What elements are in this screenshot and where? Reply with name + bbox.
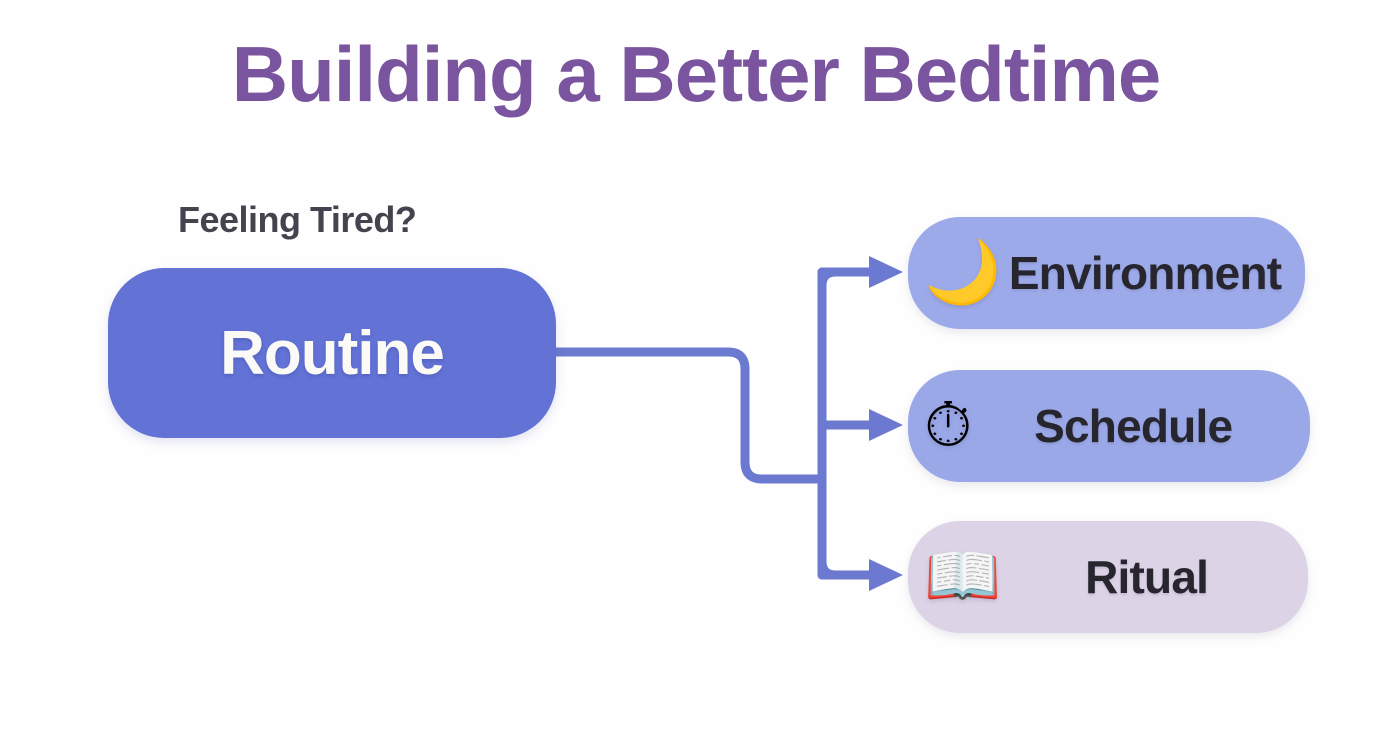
- open-book-icon: 📖: [924, 546, 1001, 608]
- node-schedule[interactable]: ⏱ Schedule: [908, 370, 1310, 482]
- node-schedule-label: Schedule: [972, 399, 1310, 453]
- arrowhead-schedule: [869, 409, 903, 441]
- arrowhead-environment: [869, 256, 903, 288]
- arrowhead-ritual: [869, 559, 903, 591]
- node-ritual[interactable]: 📖 Ritual: [908, 521, 1308, 633]
- node-environment[interactable]: 🌙 Environment: [908, 217, 1305, 329]
- diagram-canvas: Building a Better Bedtime Feeling Tired?…: [0, 0, 1392, 752]
- stopwatch-icon: ⏱: [924, 395, 972, 457]
- diagram-caption: Feeling Tired?: [178, 199, 416, 241]
- crescent-moon-with-stars-icon: 🌙: [924, 242, 1001, 304]
- arrowheads: [869, 256, 903, 591]
- node-environment-label: Environment: [1001, 246, 1305, 300]
- page-title: Building a Better Bedtime: [0, 34, 1392, 116]
- node-ritual-label: Ritual: [1001, 550, 1308, 604]
- node-routine[interactable]: Routine: [108, 268, 556, 438]
- node-routine-label: Routine: [220, 318, 444, 389]
